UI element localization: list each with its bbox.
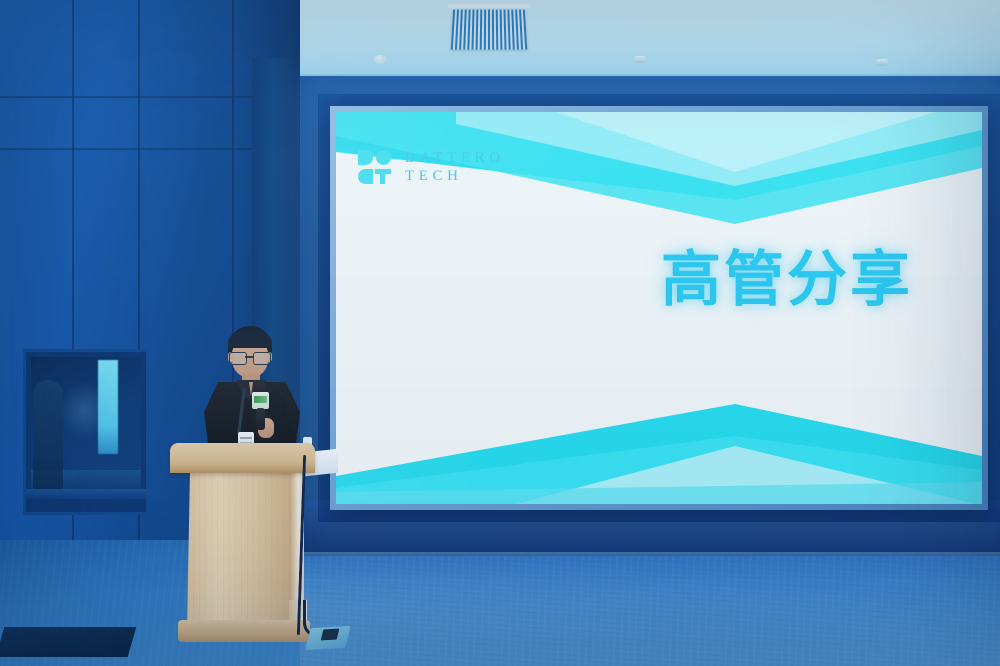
speaker-fringe xyxy=(228,332,272,348)
ceiling-vent-cap xyxy=(448,4,530,8)
podium-top xyxy=(170,443,315,473)
conference-room-scene: BATTERO TECH 高管分享 xyxy=(0,0,1000,666)
presentation-screen[interactable]: BATTERO TECH 高管分享 xyxy=(336,112,982,504)
ceiling-right-plane xyxy=(300,0,1000,80)
alcove-glare xyxy=(60,380,110,440)
microphone-body xyxy=(256,408,265,430)
floor-outlet-socket xyxy=(321,629,340,641)
podium-base xyxy=(178,620,310,642)
glasses-icon xyxy=(229,352,271,363)
microphone-flag xyxy=(252,392,269,409)
brand-logo: BATTERO TECH xyxy=(358,150,505,184)
smoke-detector-icon xyxy=(374,55,387,64)
podium-body xyxy=(187,471,297,629)
ceiling-vent-icon xyxy=(451,10,527,50)
ceiling-spot-icon xyxy=(876,59,888,66)
slide-headline: 高管分享 xyxy=(622,250,952,310)
floor-vent-grille xyxy=(0,627,136,657)
alcove-person-silhouette xyxy=(33,380,63,490)
speaker xyxy=(196,326,306,456)
alcove-sill xyxy=(26,489,146,499)
ceiling-spot-icon xyxy=(634,56,646,63)
brand-name-line2: TECH xyxy=(405,169,505,184)
battero-logo-icon xyxy=(358,150,392,184)
brand-name-line1: BATTERO xyxy=(405,151,505,166)
